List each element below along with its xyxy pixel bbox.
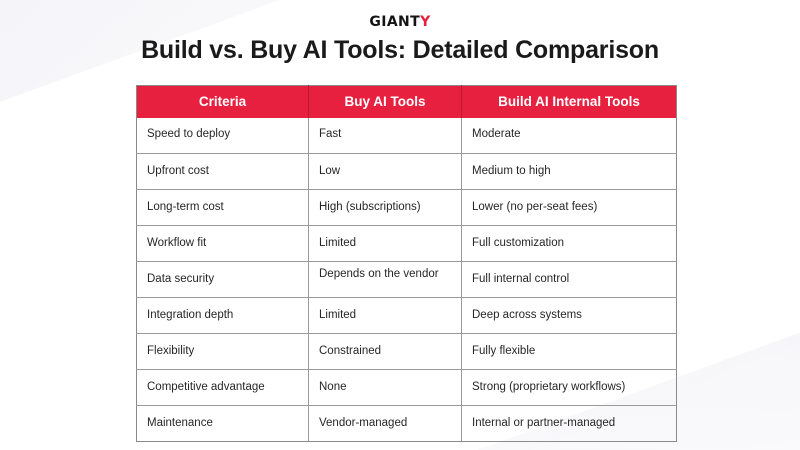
cell-buy: Constrained (309, 334, 462, 370)
cell-buy: Depends on the vendor (309, 262, 462, 298)
table-header-row: Criteria Buy AI Tools Build AI Internal … (137, 86, 677, 118)
column-header-criteria: Criteria (137, 86, 309, 118)
comparison-table: Criteria Buy AI Tools Build AI Internal … (136, 85, 677, 442)
table-row: Data security Depends on the vendor Full… (137, 262, 677, 298)
table-row: Speed to deploy Fast Moderate (137, 118, 677, 154)
table-row: Competitive advantage None Strong (propr… (137, 370, 677, 406)
table-row: Maintenance Vendor-managed Internal or p… (137, 406, 677, 442)
brand-logo-accent: Y (420, 14, 431, 30)
table-row: Upfront cost Low Medium to high (137, 154, 677, 190)
table-row: Long-term cost High (subscriptions) Lowe… (137, 190, 677, 226)
table-body: Speed to deploy Fast Moderate Upfront co… (137, 118, 677, 442)
cell-buy: None (309, 370, 462, 406)
cell-build: Fully flexible (462, 334, 677, 370)
slide-content: GIANTY Build vs. Buy AI Tools: Detailed … (0, 0, 800, 450)
cell-buy: Low (309, 154, 462, 190)
cell-criteria: Maintenance (137, 406, 309, 442)
cell-buy-text: Depends on the vendor (319, 267, 454, 283)
cell-build: Deep across systems (462, 298, 677, 334)
cell-build: Internal or partner-managed (462, 406, 677, 442)
cell-buy: Limited (309, 298, 462, 334)
brand-logo-text: GIANTY (369, 15, 430, 29)
cell-build: Full internal control (462, 262, 677, 298)
cell-build: Lower (no per-seat fees) (462, 190, 677, 226)
cell-criteria: Workflow fit (137, 226, 309, 262)
slide-canvas: GIANTY Build vs. Buy AI Tools: Detailed … (0, 0, 800, 450)
cell-build: Strong (proprietary workflows) (462, 370, 677, 406)
column-header-build: Build AI Internal Tools (462, 86, 677, 118)
cell-buy: Vendor-managed (309, 406, 462, 442)
cell-criteria: Upfront cost (137, 154, 309, 190)
brand-logo-prefix: GIANT (369, 14, 420, 30)
cell-build: Medium to high (462, 154, 677, 190)
cell-build: Full customization (462, 226, 677, 262)
cell-buy: Limited (309, 226, 462, 262)
cell-criteria: Long-term cost (137, 190, 309, 226)
cell-criteria: Competitive advantage (137, 370, 309, 406)
column-header-buy: Buy AI Tools (309, 86, 462, 118)
page-title: Build vs. Buy AI Tools: Detailed Compari… (0, 36, 800, 65)
cell-buy: Fast (309, 118, 462, 154)
table-row: Workflow fit Limited Full customization (137, 226, 677, 262)
table-row: Integration depth Limited Deep across sy… (137, 298, 677, 334)
table-row: Flexibility Constrained Fully flexible (137, 334, 677, 370)
cell-buy: High (subscriptions) (309, 190, 462, 226)
cell-build: Moderate (462, 118, 677, 154)
cell-criteria: Flexibility (137, 334, 309, 370)
cell-criteria: Integration depth (137, 298, 309, 334)
comparison-table-container: Criteria Buy AI Tools Build AI Internal … (136, 85, 676, 442)
cell-criteria: Data security (137, 262, 309, 298)
cell-criteria: Speed to deploy (137, 118, 309, 154)
table-header: Criteria Buy AI Tools Build AI Internal … (137, 86, 677, 118)
brand-logo: GIANTY (0, 14, 800, 30)
